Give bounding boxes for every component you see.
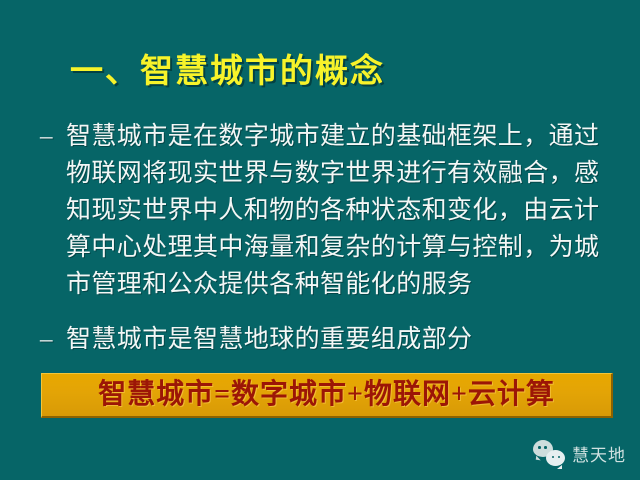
bullet-marker-icon: – xyxy=(40,118,53,155)
slide-title: 一、智慧城市的概念 xyxy=(70,50,590,94)
bullet-text-1: 智慧城市是在数字城市建立的基础框架上，通过物联网将现实世界与数字世界进行有效融合… xyxy=(66,118,611,303)
bullet-item-1: – 智慧城市是在数字城市建立的基础框架上，通过物联网将现实世界与数字世界进行有效… xyxy=(40,118,611,303)
bullet-item-2: – 智慧城市是智慧地球的重要组成部分 xyxy=(40,321,610,358)
wechat-icon xyxy=(533,440,565,466)
watermark: 慧天地 xyxy=(533,440,626,466)
watermark-label: 慧天地 xyxy=(572,441,626,466)
slide-body: – 智慧城市是在数字城市建立的基础框架上，通过物联网将现实世界与数字世界进行有效… xyxy=(40,118,610,358)
highlight-equation-text: 智慧城市=数字城市+物联网+云计算 xyxy=(98,379,555,411)
bullet-marker-icon: – xyxy=(40,321,53,358)
presentation-slide: 一、智慧城市的概念 – 智慧城市是在数字城市建立的基础框架上，通过物联网将现实世… xyxy=(0,0,640,480)
highlight-equation-box: 智慧城市=数字城市+物联网+云计算 xyxy=(41,373,613,418)
bullet-text-2: 智慧城市是智慧地球的重要组成部分 xyxy=(66,321,610,358)
